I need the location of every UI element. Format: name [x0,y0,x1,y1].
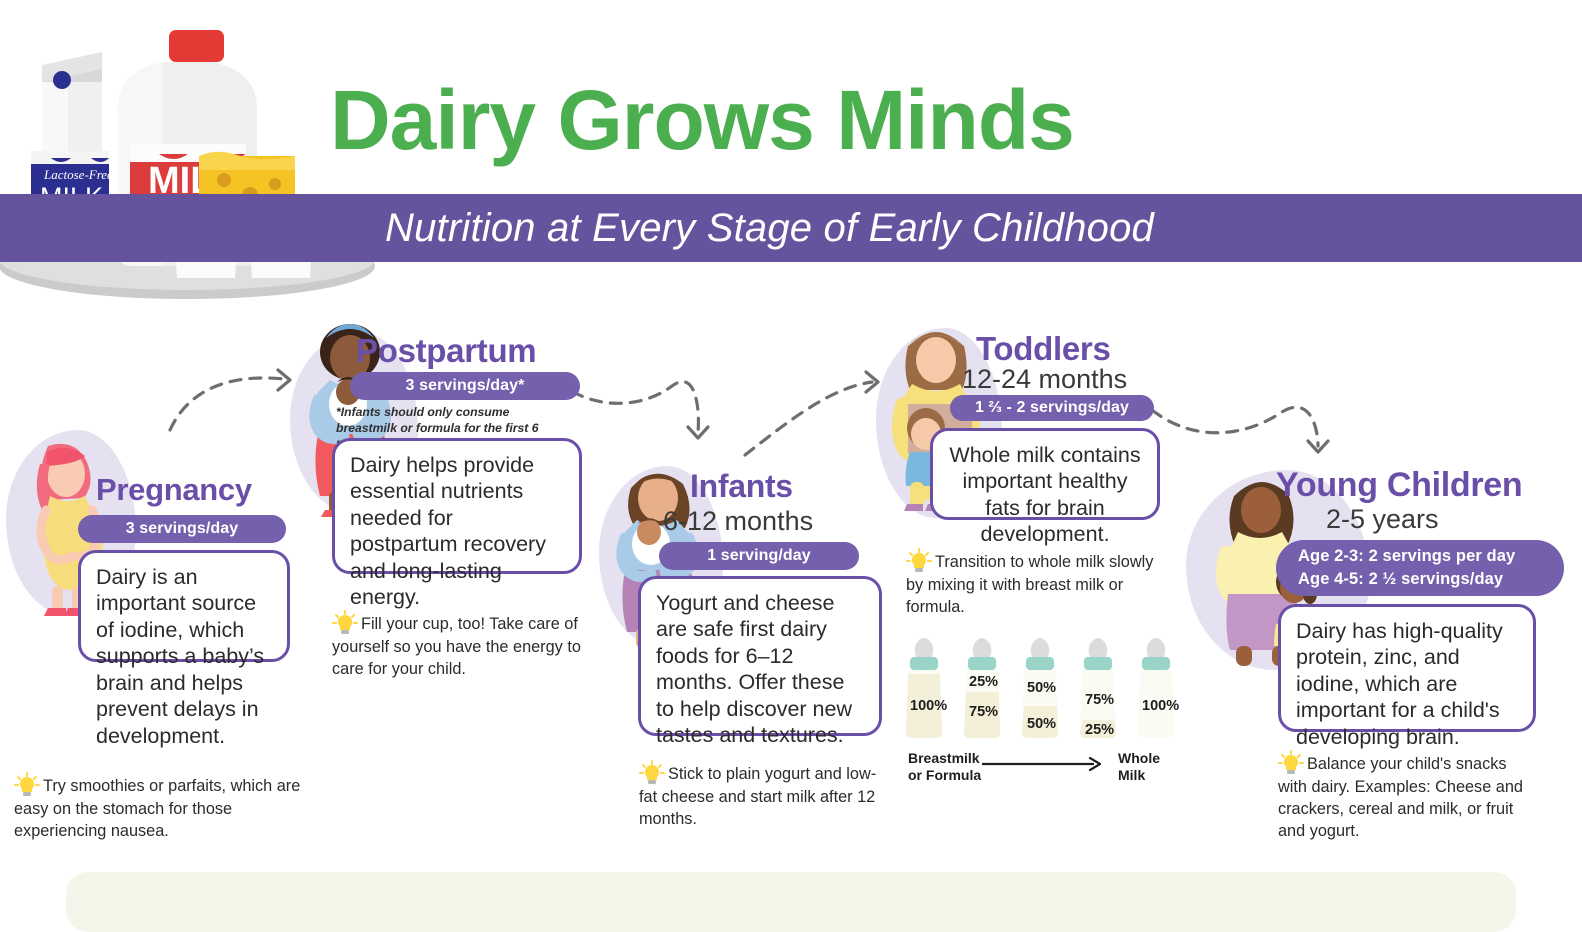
tip-body: Transition to whole milk slowly by mixin… [906,553,1153,616]
chart-start-label-line1: Breastmilk [908,750,981,767]
chart-end-label-line1: Whole [1118,750,1160,767]
bottle-4-wholemilk-pct: 75% [1085,692,1114,708]
servings-badge-line: 3 servings/day* [406,375,525,398]
servings-badge: 3 servings/day [78,515,286,543]
chart-start-label-line2: or Formula [908,767,981,784]
fact-card: Dairy has high-quality protein, zinc, an… [1278,604,1536,732]
bottle-3-breastmilk-pct: 50% [1027,716,1056,732]
servings-badge: 3 servings/day* [350,372,580,400]
bottle-5: 100% [1138,638,1179,738]
servings-badge-line-2: Age 4-5: 2 ½ servings/day [1298,568,1503,591]
tip-body: Fill your cup, too! Take care of yoursel… [332,615,581,678]
stage-heading: Pregnancy [96,472,252,508]
bottle-3: 50% 50% [1022,638,1058,738]
stage-age-range: 6-12 months [663,506,813,537]
bottle-1: 100% [906,638,947,738]
tip-text: Fill your cup, too! Take care of yoursel… [332,610,584,680]
tip-text: Balance your child's snacks with dairy. … [1278,750,1536,842]
chart-end-label: Whole Milk [1118,750,1160,784]
bottle-2-breastmilk-pct: 75% [969,704,998,720]
stage-heading: Toddlers [976,330,1111,368]
fact-card: Whole milk contains important healthy fa… [930,428,1160,520]
connector-pregnancy-to-postpartum [170,378,284,430]
lightbulb-icon [639,760,665,786]
connector-toddlers-to-youngchildren [1152,407,1318,446]
stage-age-range: 2-5 years [1326,504,1439,535]
lightbulb-icon [14,772,40,798]
connector-infants-to-toddlers [745,382,872,455]
tip-text: Transition to whole milk slowly by mixin… [906,548,1158,618]
page-title: Dairy Grows Minds [330,78,1074,162]
stage-heading: Postpartum [356,332,536,370]
stage-age-range: 12-24 months [962,364,1127,395]
tip-body: Stick to plain yogurt and low-fat cheese… [639,765,876,828]
stage-heading: Young Children [1276,466,1522,505]
servings-badge: Age 2-3: 2 servings per day Age 4-5: 2 ½… [1276,540,1564,596]
bottle-2: 25% 75% [964,638,1000,738]
tip-body: Try smoothies or parfaits, which are eas… [14,777,300,840]
bottle-5-wholemilk-pct: 100% [1142,698,1179,714]
stage-heading: Infants [690,468,793,505]
servings-badge: 1 ⅔ - 2 servings/day [950,395,1154,421]
servings-badge-line: 1 serving/day [707,545,811,568]
fact-card: Dairy helps provide essential nutrients … [332,438,582,574]
lightbulb-icon [332,610,358,636]
servings-badge-line: 3 servings/day [126,518,239,541]
servings-badge: 1 serving/day [659,542,859,570]
carton-sublabel: Lactose-Free [43,167,113,182]
bottle-2-wholemilk-pct: 25% [969,674,998,690]
servings-badge-line-1: Age 2-3: 2 servings per day [1298,545,1515,568]
bottle-3-wholemilk-pct: 50% [1027,680,1056,696]
hero-header: MILK Lactose-Free MILK yogurt yogurt Dai… [0,0,1582,300]
bottle-4-breastmilk-pct: 25% [1085,722,1114,738]
fact-card: Dairy is an important source of iodine, … [78,550,290,662]
lightbulb-icon [906,548,932,574]
fact-card: Yogurt and cheese are safe first dairy f… [638,576,882,736]
bottom-panel [66,872,1516,932]
bottle-1-breastmilk-pct: 100% [910,698,947,714]
chart-end-label-line2: Milk [1118,767,1160,784]
servings-badge-line: 1 ⅔ - 2 servings/day [975,397,1129,420]
chart-start-label: Breastmilk or Formula [908,750,981,784]
tip-text: Try smoothies or parfaits, which are eas… [14,772,302,842]
tip-body: Balance your child's snacks with dairy. … [1278,755,1523,840]
tip-text: Stick to plain yogurt and low-fat cheese… [639,760,889,830]
page-subtitle: Nutrition at Every Stage of Early Childh… [385,198,1485,258]
bottle-4: 75% 25% [1080,638,1116,738]
lightbulb-icon [1278,750,1304,776]
